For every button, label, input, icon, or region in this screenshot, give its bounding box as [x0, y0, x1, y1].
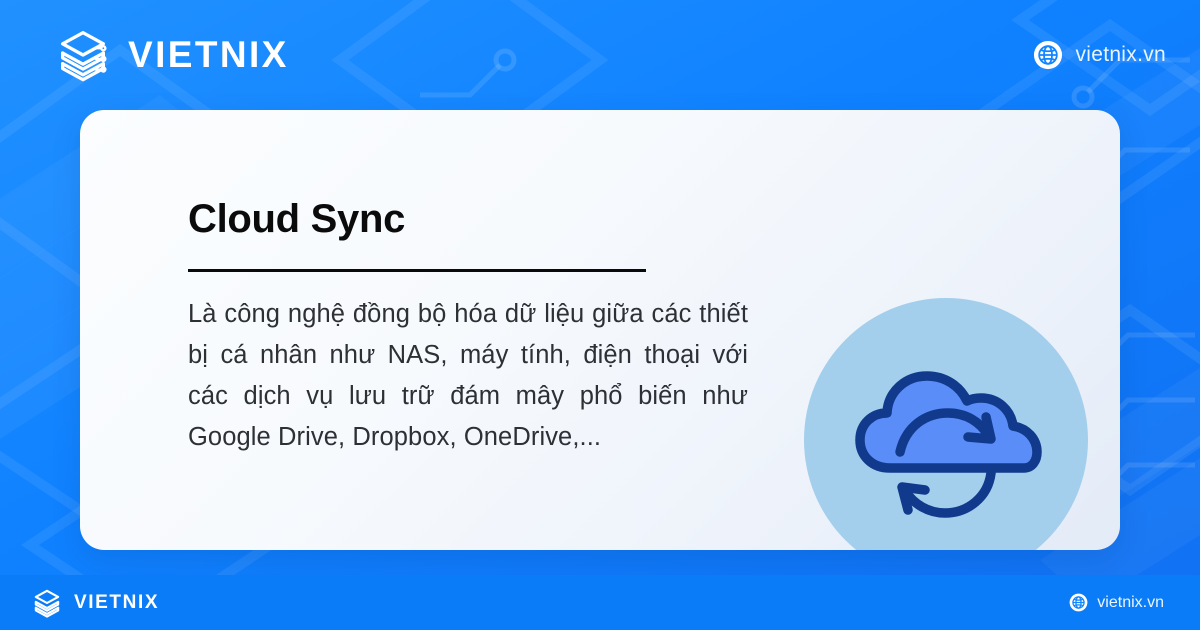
title-divider: [188, 269, 646, 272]
content-card: Cloud Sync Là công nghệ đồng bộ hóa dữ l…: [80, 110, 1120, 550]
globe-icon: [1069, 593, 1088, 612]
brand-name: VIETNIX: [128, 34, 289, 76]
footer-site-url-link[interactable]: vietnix.vn: [1069, 593, 1164, 612]
vietnix-stacked-layers-logo-icon: [30, 586, 64, 620]
cloud-sync-icon: [802, 296, 1090, 550]
globe-icon: [1033, 40, 1063, 70]
card-title: Cloud Sync: [188, 197, 748, 241]
site-url-text: vietnix.vn: [1075, 43, 1166, 67]
footer-site-url-text: vietnix.vn: [1097, 594, 1164, 612]
vietnix-stacked-layers-logo-icon: [52, 24, 114, 86]
card-description: Là công nghệ đồng bộ hóa dữ liệu giữa cá…: [188, 294, 748, 458]
site-url-link[interactable]: vietnix.vn: [1033, 40, 1166, 70]
footer-brand-logo[interactable]: VIETNIX: [30, 586, 159, 620]
page-footer: VIETNIX vietnix.vn: [0, 575, 1200, 630]
footer-brand-name: VIETNIX: [74, 592, 159, 614]
brand-logo[interactable]: VIETNIX: [52, 24, 289, 86]
card-text-block: Cloud Sync Là công nghệ đồng bộ hóa dữ l…: [188, 197, 748, 458]
poster-canvas: VIETNIX vietnix.vn Cloud Sync Là công ng…: [0, 0, 1200, 630]
page-header: VIETNIX vietnix.vn: [0, 0, 1200, 110]
cloud-sync-illustration: [802, 296, 1090, 550]
